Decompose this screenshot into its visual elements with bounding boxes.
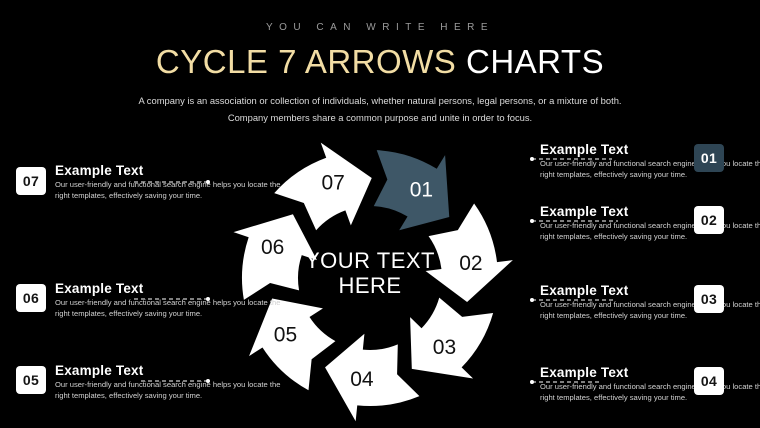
info-block-body: Our user-friendly and functional search …	[55, 180, 290, 201]
badge-01[interactable]: 01	[694, 144, 724, 172]
connector-dot-04	[530, 380, 534, 384]
info-block-title: Example Text	[540, 365, 760, 380]
connector-dot-03	[530, 298, 534, 302]
info-block-04[interactable]: Example Text Our user-friendly and funct…	[540, 365, 760, 427]
info-block-05[interactable]: Example Text Our user-friendly and funct…	[55, 363, 290, 425]
info-block-title: Example Text	[540, 204, 760, 219]
info-block-body: Our user-friendly and functional search …	[540, 221, 760, 242]
info-block-01[interactable]: Example Text Our user-friendly and funct…	[540, 142, 760, 204]
connector-dot-05	[206, 379, 210, 383]
info-block-title: Example Text	[55, 281, 290, 296]
info-block-06[interactable]: Example Text Our user-friendly and funct…	[55, 281, 290, 343]
connector-dot-06	[206, 297, 210, 301]
info-block-body: Our user-friendly and functional search …	[540, 159, 760, 180]
badge-07[interactable]: 07	[16, 167, 46, 195]
info-block-title: Example Text	[540, 142, 760, 157]
info-block-07[interactable]: Example Text Our user-friendly and funct…	[55, 163, 290, 225]
info-block-title: Example Text	[55, 363, 290, 378]
info-block-body: Our user-friendly and functional search …	[55, 298, 290, 319]
connector-dot-01	[530, 157, 534, 161]
info-block-body: Our user-friendly and functional search …	[55, 380, 290, 401]
info-block-02[interactable]: Example Text Our user-friendly and funct…	[540, 204, 760, 266]
badge-06[interactable]: 06	[16, 284, 46, 312]
info-block-title: Example Text	[540, 283, 760, 298]
connector-dot-02	[530, 219, 534, 223]
info-block-body: Our user-friendly and functional search …	[540, 300, 760, 321]
connector-dot-07	[206, 180, 210, 184]
info-block-body: Our user-friendly and functional search …	[540, 382, 760, 403]
badge-03[interactable]: 03	[694, 285, 724, 313]
info-block-03[interactable]: Example Text Our user-friendly and funct…	[540, 283, 760, 345]
slide-canvas: YOU CAN WRITE HERE CYCLE 7 ARROWS CHARTS…	[0, 0, 760, 428]
info-block-title: Example Text	[55, 163, 290, 178]
badge-05[interactable]: 05	[16, 366, 46, 394]
badge-02[interactable]: 02	[694, 206, 724, 234]
badge-04[interactable]: 04	[694, 367, 724, 395]
